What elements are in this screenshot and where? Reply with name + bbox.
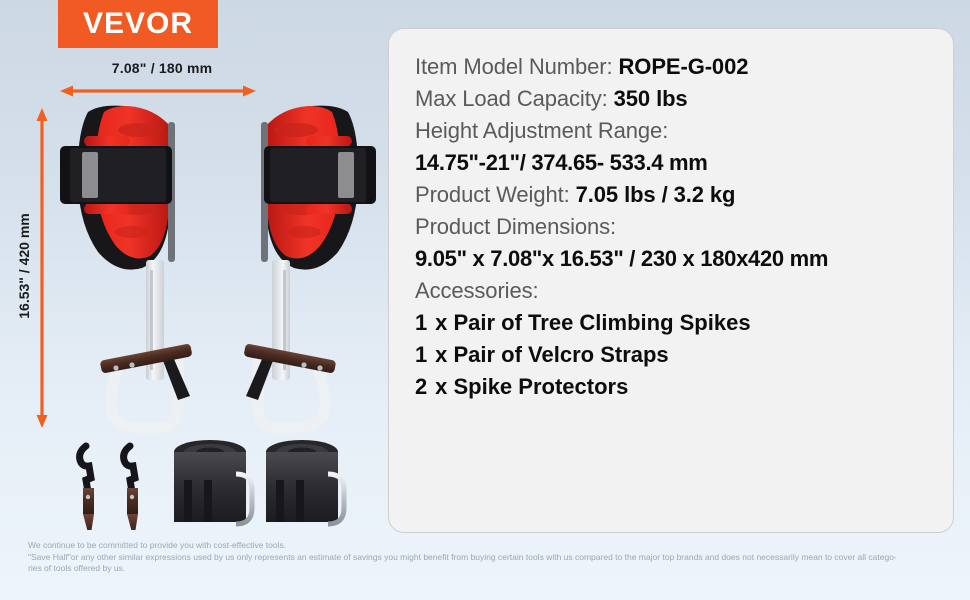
spec-row-max-load: Max Load Capacity: 350 lbs [415, 83, 953, 115]
height-dimension-label: 16.53" / 420 mm [16, 186, 32, 346]
width-dimension-arrow-icon [60, 84, 256, 98]
foot-stirrup-left [100, 343, 193, 428]
accessory-item: 2 x Spike Protectors [415, 371, 953, 403]
spec-value-weight: 7.05 lbs / 3.2 kg [576, 182, 736, 207]
product-infographic: VEVOR 7.08" / 180 mm 16.53" / 420 mm [0, 0, 970, 600]
spec-value-model: ROPE-G-002 [619, 54, 749, 79]
spec-label-product-dimensions: Product Dimensions: [415, 211, 953, 243]
accessory-item: 1 x Pair of Velcro Straps [415, 339, 953, 371]
spec-value-height-range: 14.75"-21"/ 374.65- 533.4 mm [415, 147, 953, 179]
spike-protector-1 [80, 446, 94, 530]
height-dimension-arrow-icon [34, 108, 50, 428]
accessory-item: 1 x Pair of Tree Climbing Spikes [415, 307, 953, 339]
velcro-strap-roll-1 [174, 440, 252, 524]
foot-stirrup-right [244, 343, 337, 428]
accessory-text: x Pair of Tree Climbing Spikes [435, 310, 750, 335]
width-dimension-label: 7.08" / 180 mm [72, 60, 252, 76]
spec-label-model: Item Model Number: [415, 54, 613, 79]
spec-label-max-load: Max Load Capacity: [415, 86, 608, 111]
accessory-qty: 1 [415, 339, 429, 371]
spec-row-model: Item Model Number: ROPE-G-002 [415, 51, 953, 83]
spec-label-accessories: Accessories: [415, 275, 953, 307]
disclaimer-line-3: ries of tools offered by us. [28, 563, 958, 575]
accessory-text: x Spike Protectors [435, 374, 628, 399]
disclaimer: We continue to be committed to provide y… [28, 540, 958, 575]
specification-panel: Item Model Number: ROPE-G-002 Max Load C… [388, 28, 954, 533]
climber-right [261, 106, 376, 380]
velcro-strap-roll-2 [266, 440, 344, 524]
brand-logo-text: VEVOR [83, 9, 193, 39]
brand-logo: VEVOR [58, 0, 218, 48]
disclaimer-line-1: We continue to be committed to provide y… [28, 540, 958, 552]
spec-value-product-dimensions: 9.05" x 7.08"x 16.53" / 230 x 180x420 mm [415, 243, 953, 275]
accessory-qty: 2 [415, 371, 429, 403]
accessory-text: x Pair of Velcro Straps [435, 342, 669, 367]
spec-value-max-load: 350 lbs [614, 86, 688, 111]
spec-label-height-range: Height Adjustment Range: [415, 115, 953, 147]
product-photo [58, 100, 378, 530]
disclaimer-line-2: "Save Half"or any other similar expressi… [28, 552, 958, 564]
climber-left [60, 106, 175, 380]
spec-label-weight: Product Weight: [415, 182, 570, 207]
spec-row-weight: Product Weight: 7.05 lbs / 3.2 kg [415, 179, 953, 211]
spike-protector-2 [124, 446, 138, 530]
accessory-qty: 1 [415, 307, 429, 339]
